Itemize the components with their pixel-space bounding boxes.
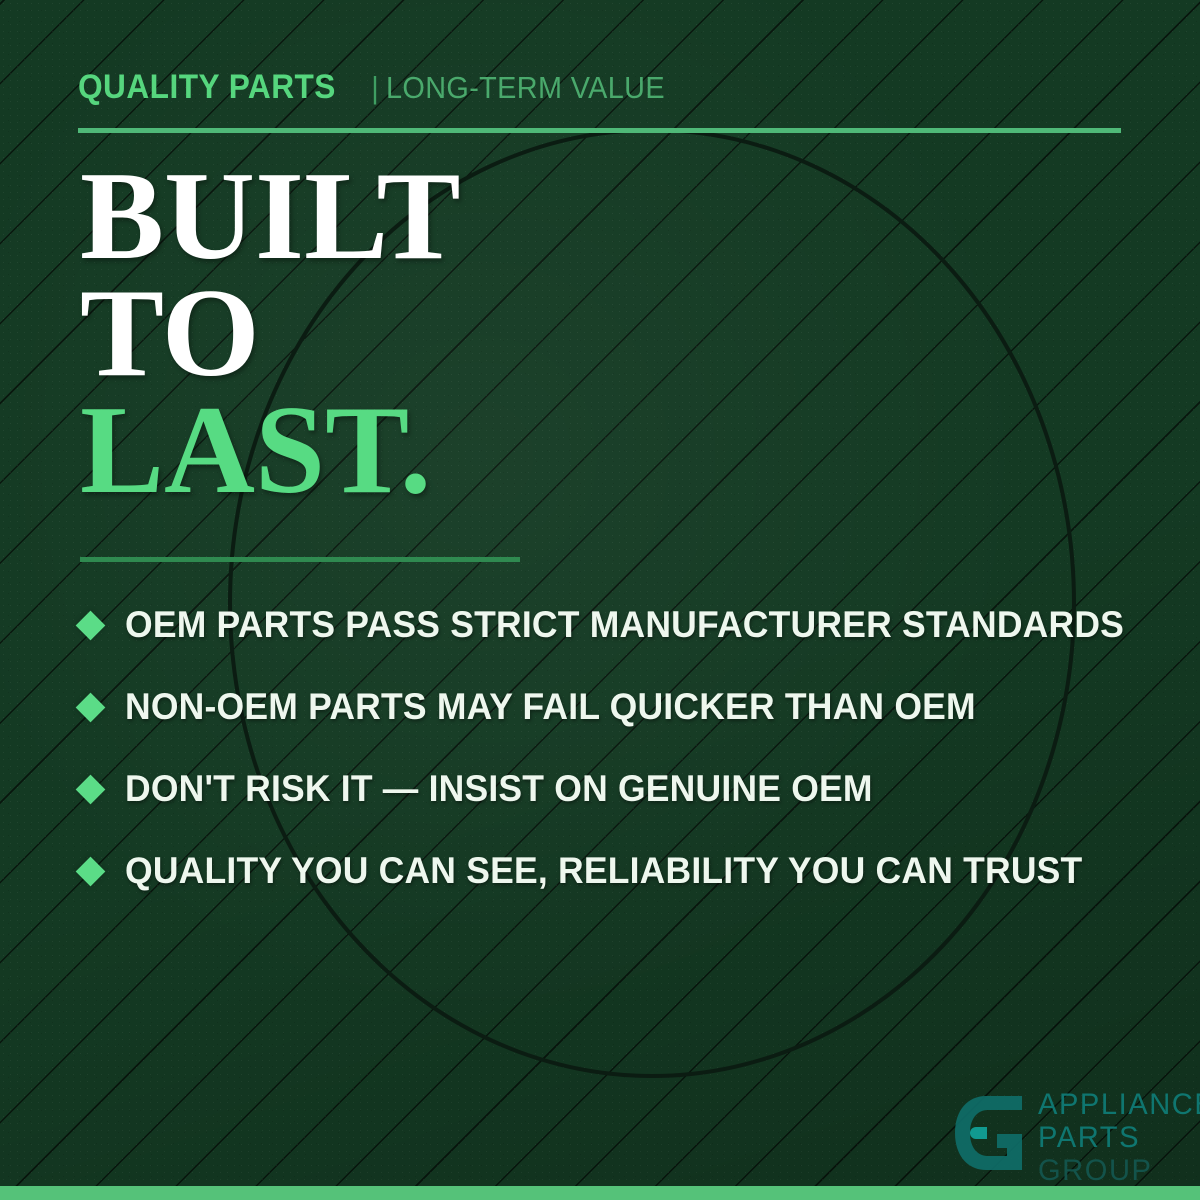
list-item-label: OEM PARTS PASS STRICT MANUFACTURER STAND… (125, 604, 1124, 646)
footer-accent-bar (0, 1186, 1200, 1200)
list-item: NON-OEM PARTS MAY FAIL QUICKER THAN OEM (80, 666, 1140, 748)
eyebrow-light-label: LONG-TERM VALUE (386, 70, 665, 106)
header-divider-rule (78, 128, 1121, 133)
list-item: DON'T RISK IT — INSIST ON GENUINE OEM (80, 748, 1140, 830)
headline-divider-rule (80, 557, 520, 562)
eyebrow-header: QUALITY PARTS | LONG-TERM VALUE (78, 68, 686, 107)
brand-word-parts: PARTS (1038, 1123, 1200, 1153)
diamond-icon (76, 856, 106, 886)
brand-word-appliance: APPLIANCE (1038, 1090, 1200, 1120)
list-item-label: NON-OEM PARTS MAY FAIL QUICKER THAN OEM (125, 686, 976, 728)
list-item: OEM PARTS PASS STRICT MANUFACTURER STAND… (80, 584, 1140, 666)
poster-canvas: QUALITY PARTS | LONG-TERM VALUE BUILT TO… (0, 0, 1200, 1200)
eyebrow-separator: | (372, 70, 379, 106)
brand-word-group: GROUP (1038, 1156, 1200, 1186)
diamond-icon (76, 774, 106, 804)
page-title: BUILT TO LAST. (80, 158, 461, 510)
list-item: QUALITY YOU CAN SEE, RELIABILITY YOU CAN… (80, 830, 1140, 912)
diamond-icon (76, 610, 106, 640)
diamond-icon (76, 692, 106, 722)
brand-logo: APPLIANCE PARTS GROUP (952, 1090, 1200, 1189)
g-monogram-icon (952, 1094, 1026, 1172)
eyebrow-strong-label: QUALITY PARTS (78, 68, 336, 107)
headline-line-1: BUILT (80, 158, 461, 275)
headline-line-3: LAST. (80, 392, 461, 509)
brand-logo-wordmark: APPLIANCE PARTS GROUP (1038, 1090, 1200, 1189)
list-item-label: QUALITY YOU CAN SEE, RELIABILITY YOU CAN… (125, 850, 1082, 892)
list-item-label: DON'T RISK IT — INSIST ON GENUINE OEM (125, 768, 873, 810)
headline-line-2: TO (80, 275, 461, 392)
benefits-list: OEM PARTS PASS STRICT MANUFACTURER STAND… (80, 584, 1140, 912)
